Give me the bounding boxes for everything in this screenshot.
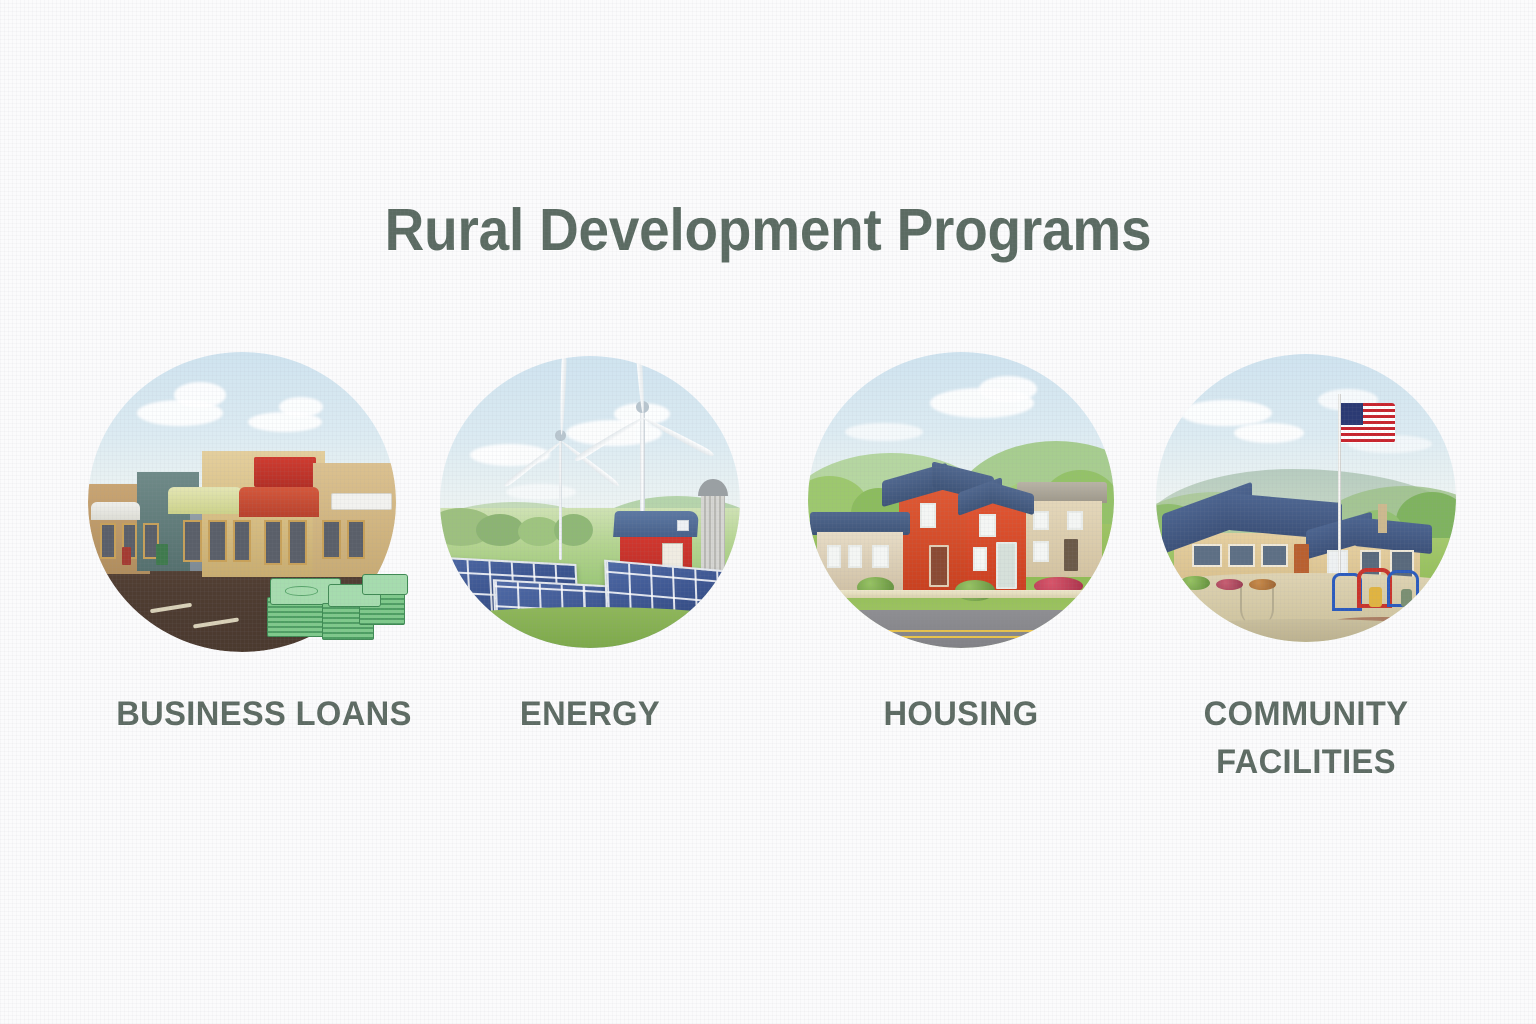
storefront-window (322, 520, 340, 559)
grass-foreground (440, 607, 740, 648)
bush (1249, 579, 1276, 591)
street-object (156, 544, 168, 565)
awning (239, 487, 319, 517)
energy-circle (440, 356, 740, 648)
window (1228, 544, 1255, 567)
road (808, 610, 1114, 648)
window (1033, 511, 1049, 530)
awning (91, 502, 140, 520)
walkway (1156, 619, 1456, 642)
window (973, 547, 988, 570)
chimney (1378, 504, 1387, 533)
turbine-tower (559, 434, 563, 561)
housing-circle (808, 352, 1114, 648)
storefront-window (208, 520, 226, 562)
storefront-sign-text (254, 457, 316, 487)
page-title: Rural Development Programs (54, 196, 1482, 264)
awning (168, 487, 242, 514)
cloud-icon (845, 423, 923, 441)
program-label-energy: ENERGY (446, 690, 734, 738)
door (929, 545, 950, 587)
door (1064, 539, 1078, 571)
cloud-icon (174, 382, 226, 408)
program-label-line-2: FACILITIES (1162, 738, 1450, 786)
flag-union (1341, 403, 1364, 425)
window (979, 514, 997, 537)
cloud-icon (279, 397, 323, 417)
storefront-sign-text (332, 494, 391, 509)
playground (1330, 561, 1444, 624)
storefront-window (183, 520, 201, 562)
street-object (122, 547, 131, 565)
storefront-sign (254, 457, 316, 487)
window (1192, 544, 1222, 567)
turbine-blade (503, 439, 563, 488)
door (996, 542, 1017, 589)
program-label-business-loans: BUSINESS LOANS (95, 690, 433, 738)
window (848, 545, 862, 568)
program-label-housing: HOUSING (814, 690, 1108, 738)
program-label-community-facilities: COMMUNITY FACILITIES (1162, 690, 1450, 787)
window (1067, 511, 1083, 530)
storefront-window (264, 520, 282, 565)
cash-bill-detail (285, 586, 318, 595)
cash-stacks (267, 562, 421, 664)
storefront-window (233, 520, 251, 562)
energy-illustration (440, 356, 740, 648)
american-flag-icon (1341, 403, 1395, 443)
playground-panel (1369, 587, 1383, 607)
housing-illustration (808, 352, 1114, 648)
cash-bill (362, 574, 408, 594)
window (920, 503, 936, 528)
cloud-icon (1234, 423, 1304, 443)
grain-silo (701, 490, 725, 578)
barn-window (677, 520, 689, 532)
cloud-icon (979, 376, 1037, 402)
road-centerline (817, 630, 1105, 632)
storefront-sign (331, 493, 392, 510)
road-centerline (817, 636, 1105, 638)
program-label-line-1: COMMUNITY (1162, 690, 1450, 738)
playground-panel (1401, 589, 1412, 607)
business-loans-illustration (88, 352, 396, 652)
window (872, 545, 889, 568)
bush (1180, 576, 1210, 590)
community-facilities-illustration (1156, 354, 1456, 642)
storefront-window (100, 523, 115, 559)
storefront-window (347, 520, 365, 559)
cloud-icon (1180, 400, 1272, 426)
window (827, 545, 841, 568)
community-facilities-circle (1156, 354, 1456, 642)
window (1033, 541, 1049, 562)
bush (1216, 579, 1243, 591)
turbine-blade (574, 415, 645, 462)
storefront-window (288, 520, 306, 565)
sidewalk (808, 590, 1114, 598)
window (1261, 544, 1288, 567)
